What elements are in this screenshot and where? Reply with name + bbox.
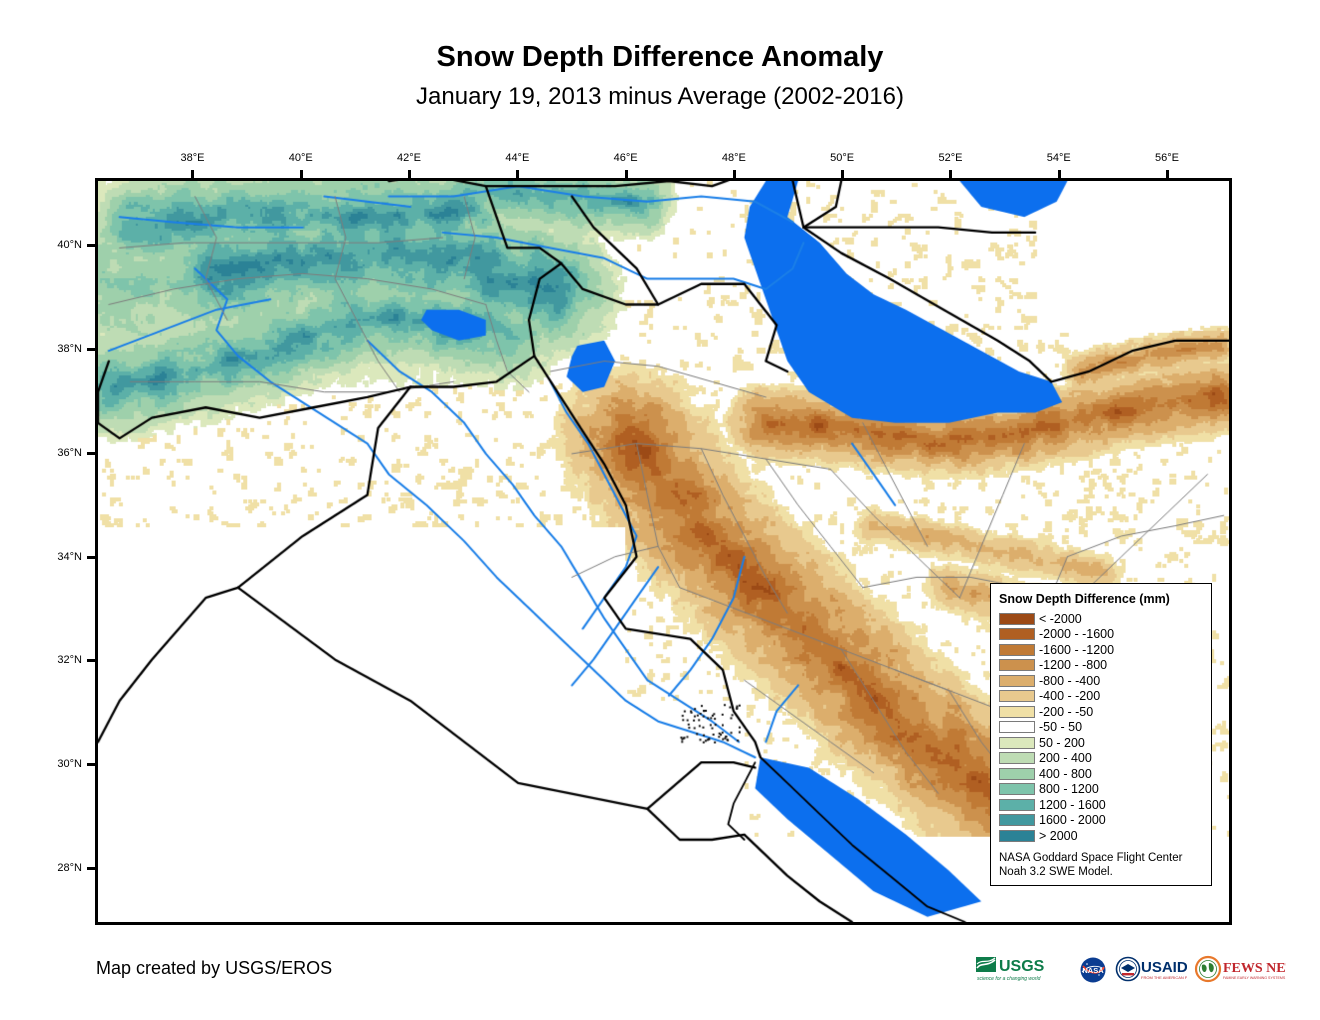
legend-entry: 50 - 200 — [999, 735, 1203, 751]
x-axis-tick — [949, 170, 952, 178]
svg-text:FAMINE EARLY WARNING SYSTEMS N: FAMINE EARLY WARNING SYSTEMS NETWORK — [1223, 976, 1286, 980]
legend-swatch — [999, 721, 1035, 733]
y-axis-tick — [87, 452, 95, 455]
legend-swatch — [999, 830, 1035, 842]
legend-entry: -200 - -50 — [999, 704, 1203, 720]
y-axis-label: 40°N — [57, 239, 82, 251]
legend-swatch — [999, 814, 1035, 826]
y-axis-label: 36°N — [57, 447, 82, 459]
x-axis-tick — [191, 170, 194, 178]
legend-entry: 1200 - 1600 — [999, 797, 1203, 813]
legend-title: Snow Depth Difference (mm) — [999, 592, 1203, 606]
legend-source-line1: NASA Goddard Space Flight Center — [999, 851, 1203, 865]
legend-label: -400 - -200 — [1039, 689, 1100, 703]
usgs-logo: USGS science for a changing world — [975, 955, 1071, 985]
x-axis-label: 40°E — [289, 152, 313, 164]
x-axis-label: 50°E — [830, 152, 854, 164]
nasa-logo: NASA — [1078, 955, 1108, 985]
nasa-logo-svg: NASA — [1078, 955, 1108, 985]
legend-swatch — [999, 675, 1035, 687]
x-axis-label: 42°E — [397, 152, 421, 164]
x-axis-tick — [408, 170, 411, 178]
legend-label: -1600 - -1200 — [1039, 643, 1114, 657]
legend-label: > 2000 — [1039, 829, 1078, 843]
legend-label: 50 - 200 — [1039, 736, 1085, 750]
x-axis-label: 56°E — [1155, 152, 1179, 164]
legend-swatch — [999, 644, 1035, 656]
fewsnet-logo: FEWS NET FAMINE EARLY WARNING SYSTEMS NE… — [1194, 955, 1286, 985]
page-subtitle: January 19, 2013 minus Average (2002-201… — [0, 82, 1320, 112]
legend-label: 400 - 800 — [1039, 767, 1092, 781]
x-axis-tick — [300, 170, 303, 178]
legend-swatch — [999, 613, 1035, 625]
legend-label: 1200 - 1600 — [1039, 798, 1106, 812]
legend-label: 800 - 1200 — [1039, 782, 1099, 796]
x-axis-label: 38°E — [180, 152, 204, 164]
legend-label: -2000 - -1600 — [1039, 627, 1114, 641]
usaid-logo-svg: USAID FROM THE AMERICAN PEOPLE — [1115, 955, 1187, 985]
legend-entry: 1600 - 2000 — [999, 813, 1203, 829]
y-axis-label: 34°N — [57, 551, 82, 563]
svg-text:USAID: USAID — [1141, 959, 1187, 976]
legend-label: -200 - -50 — [1039, 705, 1093, 719]
legend-entry: 400 - 800 — [999, 766, 1203, 782]
legend-swatch — [999, 706, 1035, 718]
legend-entry: -800 - -400 — [999, 673, 1203, 689]
y-axis-tick — [87, 763, 95, 766]
legend-label: < -2000 — [1039, 612, 1082, 626]
title-block: Snow Depth Difference Anomaly January 19… — [0, 40, 1320, 112]
legend-entry: 200 - 400 — [999, 751, 1203, 767]
x-axis-tick — [625, 170, 628, 178]
legend-swatch — [999, 628, 1035, 640]
logo-strip: USGS science for a changing world NASA U… — [975, 953, 1286, 987]
svg-text:USGS: USGS — [999, 958, 1045, 975]
legend-label: -1200 - -800 — [1039, 658, 1107, 672]
legend-swatch — [999, 659, 1035, 671]
x-axis-tick — [841, 170, 844, 178]
svg-text:NASA: NASA — [1082, 966, 1104, 975]
legend-label: 1600 - 2000 — [1039, 813, 1106, 827]
legend-entry: -1600 - -1200 — [999, 642, 1203, 658]
legend-entry: -1200 - -800 — [999, 658, 1203, 674]
map-legend: Snow Depth Difference (mm) < -2000-2000 … — [990, 583, 1212, 886]
legend-label: -50 - 50 — [1039, 720, 1082, 734]
y-axis-label: 38°N — [57, 343, 82, 355]
legend-label: 200 - 400 — [1039, 751, 1092, 765]
legend-entry: -2000 - -1600 — [999, 627, 1203, 643]
y-axis-label: 30°N — [57, 758, 82, 770]
legend-entries: < -2000-2000 - -1600-1600 - -1200-1200 -… — [999, 611, 1203, 844]
legend-swatch — [999, 752, 1035, 764]
legend-swatch — [999, 737, 1035, 749]
legend-swatch — [999, 690, 1035, 702]
x-axis-tick — [733, 170, 736, 178]
legend-entry: -50 - 50 — [999, 720, 1203, 736]
legend-label: -800 - -400 — [1039, 674, 1100, 688]
legend-entry: 800 - 1200 — [999, 782, 1203, 798]
legend-entry: -400 - -200 — [999, 689, 1203, 705]
legend-swatch — [999, 799, 1035, 811]
svg-text:FROM THE AMERICAN PEOPLE: FROM THE AMERICAN PEOPLE — [1141, 975, 1187, 980]
legend-entry: > 2000 — [999, 828, 1203, 844]
svg-text:FEWS NET: FEWS NET — [1223, 961, 1286, 976]
y-axis-tick — [87, 556, 95, 559]
legend-source-line2: Noah 3.2 SWE Model. — [999, 865, 1203, 879]
legend-source: NASA Goddard Space Flight Center Noah 3.… — [999, 851, 1203, 879]
y-axis-tick — [87, 244, 95, 247]
x-axis-tick — [1058, 170, 1061, 178]
x-axis-label: 48°E — [722, 152, 746, 164]
legend-swatch — [999, 768, 1035, 780]
x-axis-label: 46°E — [614, 152, 638, 164]
x-axis-label: 54°E — [1047, 152, 1071, 164]
x-axis-label: 52°E — [938, 152, 962, 164]
y-axis-tick — [87, 348, 95, 351]
x-axis-label: 44°E — [505, 152, 529, 164]
fewsnet-logo-svg: FEWS NET FAMINE EARLY WARNING SYSTEMS NE… — [1194, 955, 1286, 985]
y-axis-label: 28°N — [57, 862, 82, 874]
legend-entry: < -2000 — [999, 611, 1203, 627]
map-credit: Map created by USGS/EROS — [96, 958, 332, 979]
x-axis-tick — [516, 170, 519, 178]
svg-text:science for a changing world: science for a changing world — [977, 976, 1041, 982]
y-axis-label: 32°N — [57, 654, 82, 666]
usgs-logo-svg: USGS science for a changing world — [975, 955, 1071, 985]
y-axis-tick — [87, 659, 95, 662]
page-title: Snow Depth Difference Anomaly — [0, 40, 1320, 74]
x-axis-tick — [1166, 170, 1169, 178]
y-axis-tick — [87, 867, 95, 870]
legend-swatch — [999, 783, 1035, 795]
usaid-logo: USAID FROM THE AMERICAN PEOPLE — [1115, 955, 1187, 985]
